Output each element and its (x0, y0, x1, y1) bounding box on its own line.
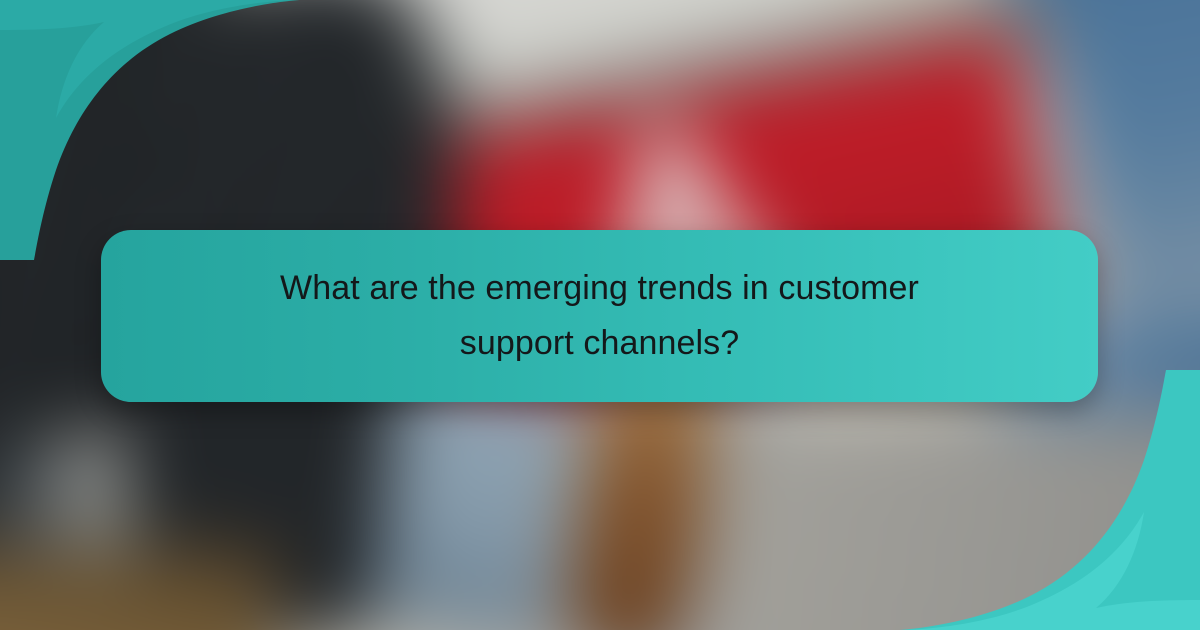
question-card: What are the emerging trends in customer… (101, 230, 1098, 402)
question-card-canvas: What are the emerging trends in customer… (0, 0, 1200, 630)
question-text: What are the emerging trends in customer… (230, 261, 970, 371)
